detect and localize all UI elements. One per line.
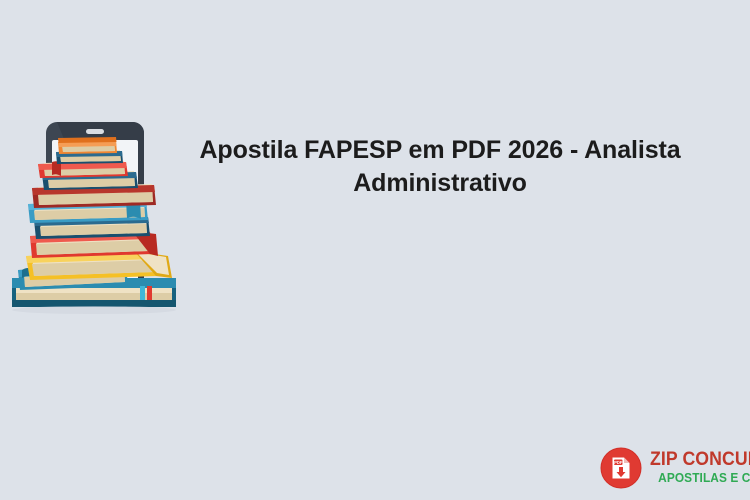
page-title: Apostila FAPESP em PDF 2026 - Analista A… [190,134,690,200]
brand-logo-text: ZIP CONCURSOS APOSTILAS E CURSOS [650,450,750,486]
brand-logo: PDF ZIP CONCURSOS APOSTILAS E CURSOS [600,447,750,489]
stack-of-books-with-tablet-illustration [8,110,183,320]
poster-canvas: Apostila FAPESP em PDF 2026 - Analista A… [0,0,750,500]
brand-tagline: APOSTILAS E CURSOS [650,472,750,485]
brand-name: ZIP CONCURSOS [650,450,750,469]
pdf-download-badge-icon: PDF [600,447,642,489]
shadow [12,306,176,314]
book-orange-top [58,137,117,154]
svg-text:PDF: PDF [614,460,623,465]
title-block: Apostila FAPESP em PDF 2026 - Analista A… [190,134,690,200]
